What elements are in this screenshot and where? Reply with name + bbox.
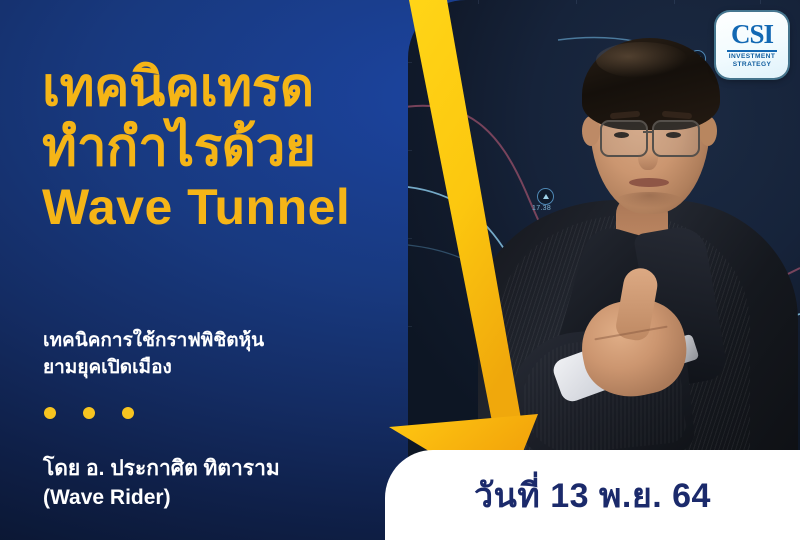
logo-tagline-line-2: STRATEGY <box>729 61 776 69</box>
subtitle-line-2: ยามยุคเปิดเมือง <box>43 355 264 382</box>
byline-line-2: (Wave Rider) <box>43 484 280 513</box>
photo-glasses-bridge <box>643 131 654 133</box>
logo-wordmark: CSI <box>731 21 773 48</box>
byline-line-1: โดย อ. ประกาศิต ทิตาราม <box>43 455 280 484</box>
logo-tagline-line-1: INVESTMENT <box>729 53 776 61</box>
dot-2 <box>83 407 95 419</box>
headline-line-1: เทคนิคเทรด <box>42 58 350 118</box>
photo-glasses-right-lens <box>652 120 700 157</box>
headline-line-3: Wave Tunnel <box>42 179 350 235</box>
photo-chin-shadow <box>616 192 682 208</box>
headline-line-2: ทำกำไรด้วย <box>42 118 350 178</box>
photo-hair-highlight <box>596 42 688 78</box>
headline-block: เทคนิคเทรด ทำกำไรด้วย Wave Tunnel <box>42 58 350 235</box>
promo-banner: 17.38 22.1 <box>0 0 800 540</box>
dot-3 <box>122 407 134 419</box>
subtitle-line-1: เทคนิคการใช้กราฟพิชิตหุ้น <box>43 328 264 355</box>
date-text: วันที่ 13 พ.ย. 64 <box>474 468 711 522</box>
date-badge: วันที่ 13 พ.ย. 64 <box>385 450 800 540</box>
photo-mouth <box>629 178 669 187</box>
subtitle-block: เทคนิคการใช้กราฟพิชิตหุ้น ยามยุคเปิดเมือ… <box>43 328 264 382</box>
dot-1 <box>44 407 56 419</box>
logo-tagline: INVESTMENT STRATEGY <box>729 53 776 69</box>
decorative-dots <box>44 407 134 419</box>
logo-divider <box>727 50 777 52</box>
csi-logo: CSI INVESTMENT STRATEGY <box>716 12 788 78</box>
photo-nose <box>638 140 658 170</box>
byline-block: โดย อ. ประกาศิต ทิตาราม (Wave Rider) <box>43 455 280 513</box>
